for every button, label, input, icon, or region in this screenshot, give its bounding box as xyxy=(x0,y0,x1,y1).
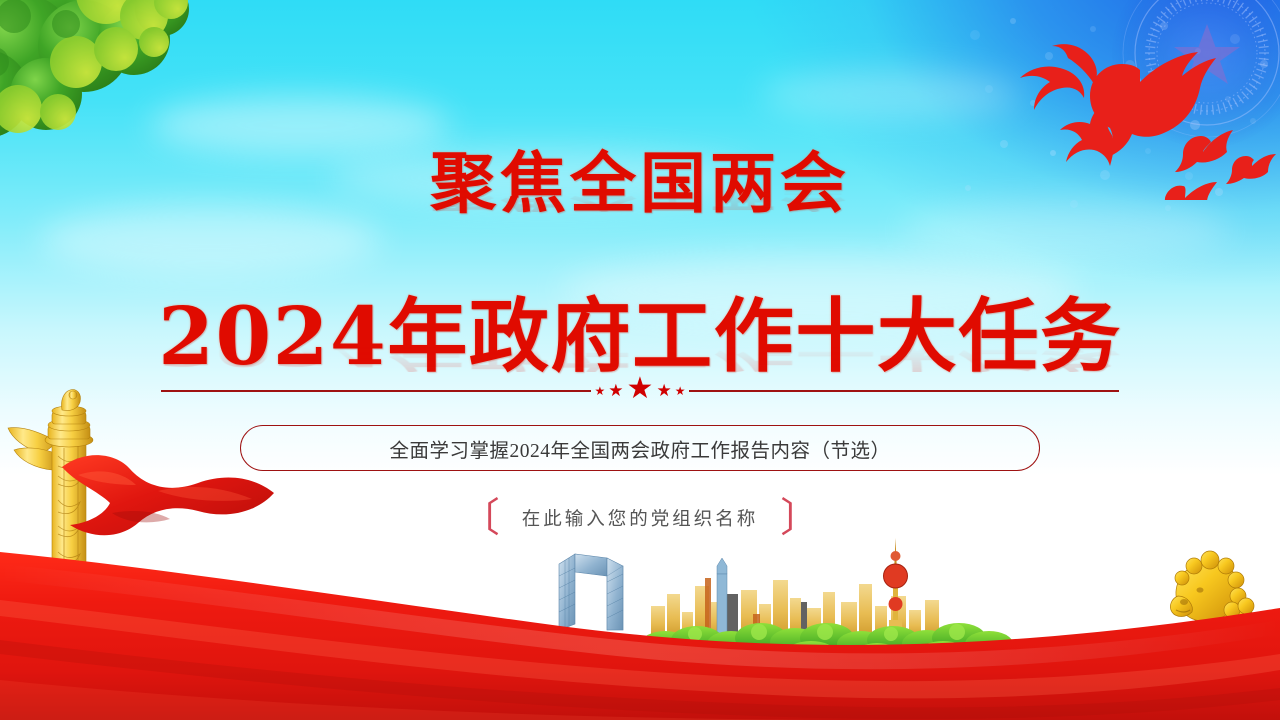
divider-line-left xyxy=(161,390,591,392)
title-block: 聚焦全国两会 聚焦全国两会 2024年政府工作十大任务 2024年政府工作十大任… xyxy=(0,150,1280,452)
star-divider: ★ ★ ★ ★ ★ xyxy=(0,390,1280,392)
subtitle-pill-label: 全面学习掌握2024年全国两会政府工作报告内容（节选） xyxy=(389,434,890,463)
page-title: 聚焦全国两会 xyxy=(0,150,1280,216)
page-subtitle: 2024年政府工作十大任务 xyxy=(0,296,1280,376)
red-ribbon-wave-icon xyxy=(0,530,1280,720)
tree-foliage-icon xyxy=(0,0,266,169)
divider-line-right xyxy=(689,390,1119,392)
subtitle-pill: 全面学习掌握2024年全国两会政府工作报告内容（节选） xyxy=(240,425,1040,471)
bottom-scenery xyxy=(0,490,1280,720)
presentation-slide: 聚焦全国两会 聚焦全国两会 2024年政府工作十大任务 2024年政府工作十大任… xyxy=(0,0,1280,720)
